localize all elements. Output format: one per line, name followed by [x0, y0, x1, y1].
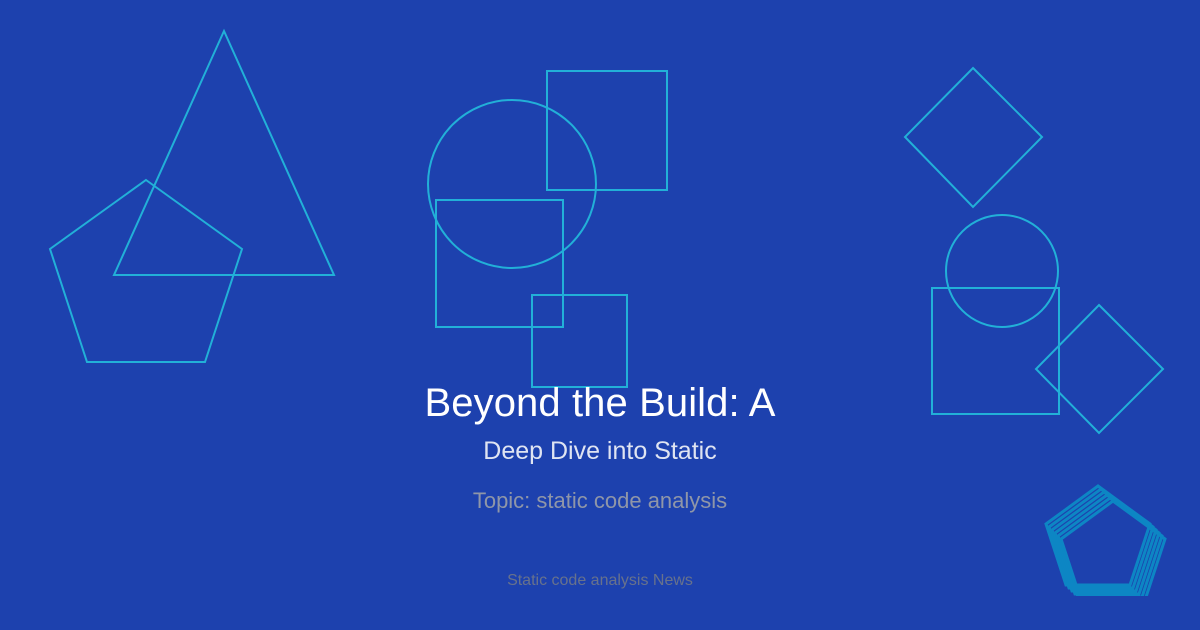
square-shape-top: [547, 71, 667, 190]
pentagon-shape: [50, 180, 242, 362]
decorative-shapes-layer: [0, 0, 1200, 630]
triangle-shape: [114, 31, 334, 275]
square-shape-middle: [436, 200, 563, 327]
square-shape-small: [532, 295, 627, 387]
stacked-pentagon-logo-icon: [1040, 484, 1170, 596]
square-shape-right: [932, 288, 1059, 414]
diamond-shape-top: [905, 68, 1042, 207]
slide-canvas: Beyond the Build: A Deep Dive into Stati…: [0, 0, 1200, 630]
circle-shape-center: [428, 100, 596, 268]
circle-shape-right: [946, 215, 1058, 327]
